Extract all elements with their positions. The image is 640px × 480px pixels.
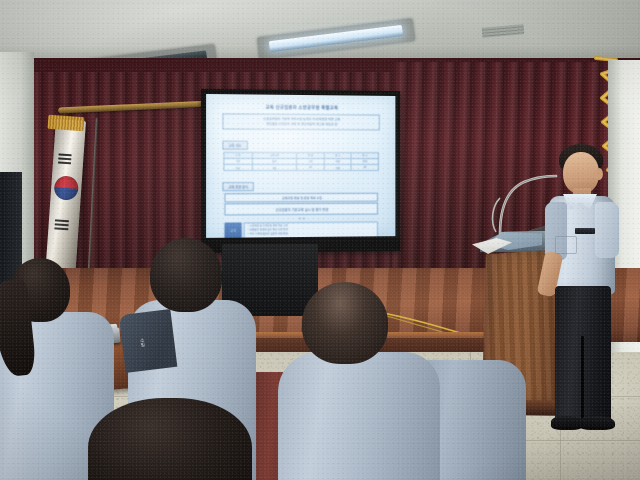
presenter-leg-split <box>581 336 584 424</box>
presenter-at-podium <box>545 140 623 440</box>
audience-member-foreground <box>88 398 260 480</box>
projection-screen-surface: 교육 신규임용자 소방공무원 특별교육 소방공무원의 기본적 직무수행 능력과 … <box>206 94 395 238</box>
audience-head <box>302 282 388 364</box>
trigram-mark <box>58 161 71 163</box>
taeguk-symbol <box>53 175 79 201</box>
presentation-slide: 교육 신규임용자 소방공무원 특별교육 소방공무원의 기본적 직무수행 능력과 … <box>206 94 395 238</box>
presenter-shirt-pocket <box>555 236 577 254</box>
audience-member-center <box>282 282 432 480</box>
trigram-mark <box>55 223 69 226</box>
table-cell: 3일 <box>252 164 297 170</box>
flag-fringe-top <box>48 115 85 131</box>
slide-section-heading-1: 교육 개요 <box>222 140 247 149</box>
slide-data-table: 구 분 교육기간 인 원 장 소 비 고 구분 일자 시간 대상 인원 <box>223 151 378 171</box>
safety-vest: 소방 <box>119 309 178 373</box>
trigram-mark <box>55 219 69 222</box>
slide-flow-block-1: 교 육 ○ 소방행정 및 조직문화 관련 이론 교육 ○ 현장활동 중심의 실무… <box>224 221 377 238</box>
auditorium-presentation-photo: 교육 신규임용자 소방공무원 특별교육 소방공무원의 기본적 직무수행 능력과 … <box>0 0 640 480</box>
slide-title: 교육 신규임용자 소방공무원 특별교육 <box>216 104 385 112</box>
audience-head <box>150 238 222 312</box>
trigram-mark <box>58 157 71 159</box>
slide-block-tag: 교 육 <box>224 222 241 238</box>
table-cell: 45 <box>351 164 378 170</box>
table-cell: 24 <box>297 164 324 170</box>
presenter-ear <box>595 168 603 180</box>
table-cell: 전원 <box>324 164 351 170</box>
trigram-mark <box>54 227 68 230</box>
trigram-mark <box>59 153 72 155</box>
projection-screen: 교육 신규임용자 소방공무원 특별교육 소방공무원의 기본적 직무수행 능력과 … <box>201 89 400 253</box>
slide-note-box: 소방공무원의 기본적 직무수행 능력과 자세 확립을 위한 교육 현장활동 안전… <box>222 113 379 130</box>
slide-bullet: ○ 직무 수행에 필요한 실습형 과정 편성 <box>247 232 374 237</box>
presenter-name-badge <box>575 228 595 234</box>
audience-head <box>88 398 252 480</box>
vest-text-label: 소방 <box>127 329 146 357</box>
presenter-shoe-right <box>579 416 615 430</box>
slide-block-list: ○ 소방행정 및 조직문화 관련 이론 교육 ○ 현장활동 중심의 실무 중심 … <box>244 221 378 238</box>
slide-flow-bar-top: 교육과정 편성 및 운영 계획 수립 <box>224 193 377 203</box>
slide-section-heading-2: 교육 운영 방식 <box>222 182 254 191</box>
slide-note-line: 현장활동 안전관리 강화 및 현장대응력 제고를 목표로 함 <box>226 121 375 127</box>
table-row: 신규 3일 24 전원 45 <box>224 164 378 170</box>
slide-flow-bar-main: 신규임용자 기본교육 실시 및 평가 반영 <box>224 203 377 215</box>
audience-shoulders <box>278 352 440 480</box>
table-cell: 신규 <box>224 164 252 170</box>
presenter-sleeve-right <box>595 202 619 258</box>
